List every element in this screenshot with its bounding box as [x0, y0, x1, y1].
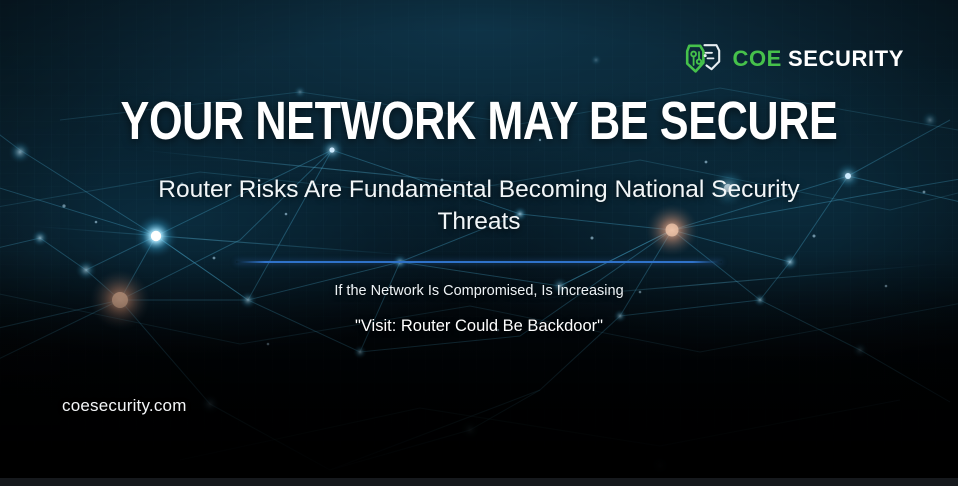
banner-content: YOUR NETWORK MAY BE SECURE Router Risks … [0, 0, 958, 336]
promo-banner: COESECURITY YOUR NETWORK MAY BE SECURE R… [0, 0, 958, 486]
bottom-strip [0, 478, 958, 486]
website-url[interactable]: coesecurity.com [62, 396, 187, 416]
quote-text: "Visit: Router Could Be Backdoor" [0, 317, 958, 336]
divider [236, 261, 722, 263]
kicker-text: If the Network Is Compromised, Is Increa… [0, 283, 958, 299]
page-title: YOUR NETWORK MAY BE SECURE [96, 94, 862, 148]
page-subtitle: Router Risks Are Fundamental Becoming Na… [134, 174, 824, 239]
